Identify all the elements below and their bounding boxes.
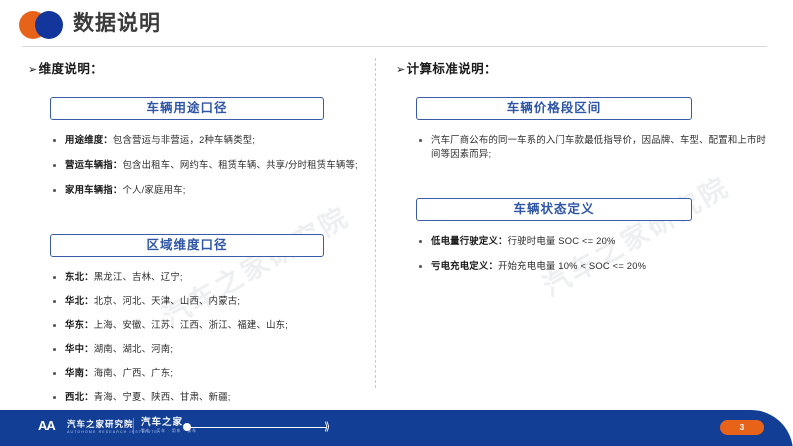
list-item-text: 海南、广西、广东; xyxy=(94,367,173,378)
list-item-text: 汽车厂商公布的同一车系的入门车款最低指导价，因品牌、车型、配置和上市时间等因素而… xyxy=(431,134,766,159)
page-title: 数据说明 xyxy=(73,10,161,38)
badge-region-dimension: 区域维度口径 xyxy=(50,234,324,257)
list-item: 华南：海南、广西、广东; xyxy=(50,366,362,380)
logo-circle-blue-icon xyxy=(35,11,63,39)
progress-dot xyxy=(183,423,191,431)
list-item: 汽车厂商公布的同一车系的入门车款最低指导价，因品牌、车型、配置和上市时间等因素而… xyxy=(416,133,768,161)
slide-root: 数据说明 汽车之家研究院 汽车之家研究院 ➢维度说明： 车辆用途口径 用途维度：… xyxy=(0,0,793,446)
list-item-text: 北京、河北、天津、山西、内蒙古; xyxy=(94,295,240,306)
right-section-heading: ➢计算标准说明： xyxy=(396,58,768,77)
list-item: 东北：黑龙江、吉林、辽宁; xyxy=(50,270,362,284)
badge-price-range: 车辆价格段区间 xyxy=(416,97,692,120)
badge-vehicle-usage: 车辆用途口径 xyxy=(50,97,324,120)
left-section-heading: ➢维度说明： xyxy=(28,58,362,77)
list-item-text: 包含营运与非营运，2种车辆类型; xyxy=(113,134,255,145)
list-item-label: 低电量行驶定义： xyxy=(431,235,508,246)
page-number-badge: 3 xyxy=(720,420,764,435)
list-item-text: 包含出租车、网约车、租赁车辆、共享/分时租赁车辆等; xyxy=(122,159,357,170)
list-item: 用途维度：包含营运与非营运，2种车辆类型; xyxy=(50,133,362,147)
list-item: 华北：北京、河北、天津、山西、内蒙古; xyxy=(50,294,362,308)
spacer xyxy=(396,172,768,198)
list-item-label: 华南： xyxy=(65,367,94,378)
footer-logo-mark-icon: AA xyxy=(38,419,55,432)
list-item-text: 湖南、湖北、河南; xyxy=(94,343,173,354)
header-divider xyxy=(22,46,767,47)
list-item-text: 黑龙江、吉林、辽宁; xyxy=(94,271,183,282)
vehicle-usage-list: 用途维度：包含营运与非营运，2种车辆类型; 营运车辆指：包含出租车、网约车、租赁… xyxy=(50,133,362,197)
vehicle-state-list: 低电量行驶定义：行驶时电量 SOC <= 20% 亏电充电定义：开始充电电量 1… xyxy=(416,234,768,273)
list-item-label: 华东： xyxy=(65,319,94,330)
progress-track xyxy=(186,427,326,428)
list-item-label: 家用车辆指： xyxy=(65,184,122,195)
left-section-heading-label: 维度说明： xyxy=(39,62,104,76)
list-item-label: 华中： xyxy=(65,343,94,354)
list-item-text: 上海、安徽、江苏、江西、浙江、福建、山东; xyxy=(94,319,288,330)
left-column: ➢维度说明： 车辆用途口径 用途维度：包含营运与非营运，2种车辆类型; 营运车辆… xyxy=(28,58,362,438)
list-item: 低电量行驶定义：行驶时电量 SOC <= 20% xyxy=(416,234,768,248)
list-item-label: 华北： xyxy=(65,295,94,306)
double-chevron-right-icon: ⟫ xyxy=(324,420,330,434)
right-column: ➢计算标准说明： 车辆价格段区间 汽车厂商公布的同一车系的入门车款最低指导价，因… xyxy=(396,58,768,284)
brand-logo xyxy=(19,11,71,39)
list-item-label: 用途维度： xyxy=(65,134,113,145)
spacer xyxy=(28,208,362,234)
list-item-text: 行驶时电量 SOC <= 20% xyxy=(508,235,616,246)
footer-brand-name: 汽车之家研究院 xyxy=(67,419,134,429)
badge-vehicle-state: 车辆状态定义 xyxy=(416,198,692,221)
slide-header: 数据说明 xyxy=(0,0,793,50)
footer-separator xyxy=(133,418,134,434)
list-item-label: 亏电充电定义： xyxy=(431,260,498,271)
list-item-text: 个人/家庭用车; xyxy=(122,184,185,195)
list-item-label: 营运车辆指： xyxy=(65,159,122,170)
list-item: 华中：湖南、湖北、河南; xyxy=(50,342,362,356)
footer-partner-name: 汽车之家 xyxy=(141,417,183,428)
list-item: 亏电充电定义：开始充电电量 10% < SOC <= 20% xyxy=(416,259,768,273)
chevron-right-icon: ➢ xyxy=(396,63,406,76)
list-item: 营运车辆指：包含出租车、网约车、租赁车辆、共享/分时租赁车辆等; xyxy=(50,158,362,172)
chevron-right-icon: ➢ xyxy=(28,63,38,76)
list-item: 家用车辆指：个人/家庭用车; xyxy=(50,183,362,197)
right-section-heading-label: 计算标准说明： xyxy=(407,62,497,76)
list-item-label: 东北： xyxy=(65,271,94,282)
column-divider xyxy=(375,58,376,388)
list-item-text: 开始充电电量 10% < SOC <= 20% xyxy=(498,260,646,271)
list-item: 华东：上海、安徽、江苏、江西、浙江、福建、山东; xyxy=(50,318,362,332)
price-range-list: 汽车厂商公布的同一车系的入门车款最低指导价，因品牌、车型、配置和上市时间等因素而… xyxy=(416,133,768,161)
